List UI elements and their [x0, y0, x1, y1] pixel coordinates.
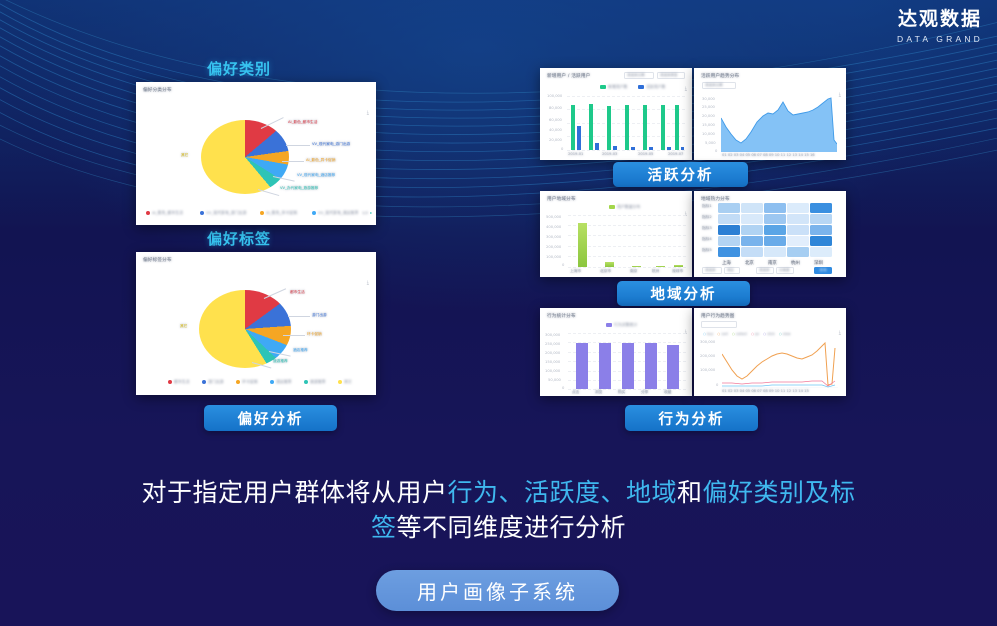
region-filter-2[interactable]: 地区	[724, 267, 740, 274]
bar-active-users	[631, 147, 635, 150]
y-tick: 0	[562, 263, 564, 267]
filter-text: 请选择日期	[627, 73, 645, 78]
legend-label: AI_影色_都市生活	[152, 210, 183, 216]
x-tick: 2019-01	[568, 152, 583, 156]
legend-label: 旅游推荐	[310, 379, 326, 385]
chart-title: 偏好标签分布	[143, 257, 172, 263]
y-tick: 30,000	[702, 97, 715, 101]
x-tick: 点击	[572, 390, 579, 395]
y-tick: 500,000	[546, 215, 561, 219]
bar-behavior-2	[622, 343, 634, 389]
legend-item-0[interactable]: AI_影色_都市生活	[146, 210, 183, 216]
bar-active-users	[649, 147, 653, 150]
y-tick: 0	[716, 383, 718, 387]
bar-region-2	[632, 266, 641, 267]
y-tick: 250,000	[545, 342, 560, 346]
x-tick: 购买	[618, 390, 625, 395]
date-filter-input[interactable]: 请选择日期	[624, 72, 654, 79]
bar-plot-area	[568, 215, 686, 267]
bar-region-4	[674, 265, 683, 268]
bar-new-users	[589, 104, 593, 150]
legend-item-region[interactable]: 用户数量分布	[609, 204, 640, 210]
pie-label-1: VV_现代家电_游门出游	[312, 142, 350, 147]
download-icon[interactable]: ⤓	[839, 92, 841, 98]
y-tick: 40,000	[549, 128, 562, 132]
heatmap-col-label: 南京	[768, 260, 777, 266]
caption-preference-category: 偏好类别	[207, 58, 271, 79]
chart-card-activity-area[interactable]: 活跃用户趋势分布 请选择日期 ⤓ 30,000 25,000 20,000 15…	[694, 68, 846, 160]
y-tick: 200,000	[546, 245, 561, 249]
pie-label-4: VV_办代家电_旅游推荐	[280, 186, 318, 191]
bar-plot-area	[568, 333, 686, 389]
legend-item-3[interactable]: VV_现代家电_酒店推荐	[312, 210, 358, 216]
x-tick: 2019-05	[638, 152, 653, 156]
bar-plot-area	[567, 96, 685, 150]
bar-region-1	[605, 262, 614, 267]
pill-preference-analysis[interactable]: 偏好分析	[204, 405, 337, 431]
bar-new-users	[571, 105, 575, 150]
legend-item-5[interactable]: 其它	[338, 379, 352, 385]
x-tick: 南京	[630, 269, 637, 274]
y-tick: 0	[561, 147, 563, 151]
bar-region-0	[578, 223, 587, 267]
x-tick: 2019-03	[602, 152, 617, 156]
y-tick: 100,000	[547, 94, 562, 98]
date-filter-input[interactable]: 请选择日期	[702, 82, 736, 89]
y-tick: 25,000	[702, 105, 715, 109]
legend-label: 环卡促销	[242, 379, 258, 385]
bar-active-users	[667, 147, 671, 150]
pie-chart	[201, 120, 289, 194]
y-tick: 10,000	[702, 132, 715, 136]
download-icon[interactable]: ⤓	[367, 110, 369, 116]
chart-title: 偏好分类分布	[143, 87, 172, 93]
legend-label: 行为次数统计	[614, 322, 637, 328]
bar-active-users	[681, 147, 684, 150]
query-button-label: 查询	[820, 268, 827, 273]
legend-item-0[interactable]: 都市生活	[168, 379, 190, 385]
legend-pager-text: 1/2	[362, 210, 368, 215]
heatmap-col-label: 北京	[745, 260, 754, 266]
chart-card-behavior-bar[interactable]: 行为统计分布 行为次数统计 ⤓ 300,000 250,000 200,000 …	[540, 308, 692, 396]
chart-card-region-bar[interactable]: 用户地域分布 用户数量分布 ⤓ 500,000 400,000 300,000 …	[540, 191, 692, 277]
legend-label: 其它	[344, 379, 352, 385]
bar-behavior-4	[667, 345, 679, 389]
legend-row[interactable]: ○buy ○cart ○collect ○pv ○click ○view	[703, 332, 790, 336]
y-tick: 0	[562, 386, 564, 390]
y-tick: 20,000	[702, 114, 715, 118]
filter-text: 请选择	[705, 268, 716, 273]
legend-label: VV_现代家电_酒店推荐	[318, 210, 358, 216]
y-tick: 400,000	[546, 225, 561, 229]
y-tick: 80,000	[549, 106, 562, 110]
bar-new-users	[625, 105, 629, 150]
bar-behavior-0	[576, 343, 588, 389]
legend-label: click	[767, 332, 775, 336]
behavior-filter-input[interactable]	[701, 321, 737, 328]
system-button[interactable]: 用户画像子系统	[376, 570, 619, 611]
area-chart	[721, 96, 837, 152]
pie-label-5: 其它	[180, 324, 187, 329]
legend-item-3[interactable]: 酒店推荐	[270, 379, 292, 385]
legend-item-1[interactable]: 游门出游	[202, 379, 224, 385]
caption-line-1: 对于指定用户群体将从用户行为、活跃度、地域和偏好类别及标	[0, 476, 997, 511]
heatmap-row-label: 指标5	[702, 248, 712, 253]
chart-title: 活跃用户趋势分布	[701, 73, 739, 79]
heatmap-col-label: 杭州	[791, 260, 800, 266]
caption-seg-6: 等不同维度进行分析	[397, 513, 627, 542]
caption-line-2: 签等不同维度进行分析	[0, 511, 997, 546]
x-tick: 收藏	[664, 390, 671, 395]
chart-title: 用户地域分布	[547, 196, 576, 202]
chart-title: 地域热力分布	[701, 196, 730, 202]
pie-chart	[199, 290, 291, 368]
pie-leader-line	[264, 288, 286, 299]
chart-title: 新增用户 / 活跃用户	[547, 73, 590, 79]
filter-text: 请选择类型	[660, 73, 678, 78]
legend-label: 活跃用户数	[646, 84, 665, 90]
bar-new-users	[607, 106, 611, 150]
chart-card-activity-bar[interactable]: 新增用户 / 活跃用户 请选择日期 请选择类型 ⤓ 新增用户数 活跃用户数 10…	[540, 68, 692, 160]
y-tick: 200,000	[545, 351, 560, 355]
heatmap-row-label: 指标4	[702, 237, 712, 242]
region-filter-3[interactable]: 请选择	[756, 267, 774, 274]
brand-logo: 达观数据 DATA GRAND	[897, 8, 983, 44]
pill-activity-analysis[interactable]: 活跃分析	[613, 162, 748, 187]
y-tick: 20,000	[549, 138, 562, 142]
x-tick: 2019-07	[668, 152, 683, 156]
caption-seg-1: 对于指定用户群体将从用户	[141, 478, 447, 507]
pie-leader-line	[258, 189, 279, 196]
x-ticks: 01 02 03 04 05 06 07 08 09 10 11 12 13 1…	[722, 389, 809, 393]
bar-region-3	[656, 266, 665, 267]
filter-text: 地区	[727, 268, 734, 273]
pie-label-0: 都市生活	[290, 290, 305, 295]
filter-text: 请选择	[759, 268, 770, 273]
bar-active-users	[613, 146, 617, 150]
legend-label: VV_现代家电_游门出游	[206, 210, 246, 216]
chart-card-region-heatmap[interactable]: 地域热力分布	[694, 191, 846, 277]
y-tick: 50,000	[548, 378, 561, 382]
caption-seg-5: 签	[371, 513, 397, 542]
pie-leader-line	[282, 161, 304, 162]
chart-card-behavior-line[interactable]: 用户行为趋势图 ○buy ○cart ○collect ○pv ○click ○…	[694, 308, 846, 396]
bar-new-users	[675, 105, 679, 150]
y-tick: 5,000	[705, 141, 716, 145]
region-filter-1[interactable]: 请选择	[702, 267, 722, 274]
caption-seg-3: 和	[677, 478, 703, 507]
slide-root: 达观数据 DATA GRAND 偏好类别 偏好标签 偏好分类分布 ⤓ AI_影色…	[0, 0, 997, 626]
legend-item-2[interactable]: AI_影色_异卡促销	[260, 210, 297, 216]
brand-logo-cn: 达观数据	[897, 8, 983, 32]
x-ticks: 01 02 03 04 05 06 07 08 09 10 11 12 13 1…	[722, 153, 815, 157]
download-icon[interactable]: ⤓	[367, 280, 369, 286]
y-tick: 60,000	[549, 118, 562, 122]
y-tick: 200,000	[700, 354, 715, 358]
heatmap-col-label: 上海	[722, 260, 731, 266]
pie-label-0: AI_影色_都市生活	[288, 120, 317, 125]
heatmap-col-label: 深圳	[814, 260, 823, 266]
slide-caption: 对于指定用户群体将从用户行为、活跃度、地域和偏好类别及标 签等不同维度进行分析	[0, 476, 997, 545]
bar-active-users	[595, 143, 599, 150]
filter-text: 请选择日期	[705, 83, 723, 88]
bar-behavior-1	[599, 343, 611, 389]
chart-title: 用户行为趋势图	[701, 313, 735, 319]
pill-behavior-analysis[interactable]: 行为分析	[625, 405, 758, 431]
pie-label-2: AI_影色_异卡促销	[306, 158, 335, 163]
x-tick: 北京市	[600, 269, 611, 274]
y-tick: 300,000	[546, 235, 561, 239]
caption-preference-tag: 偏好标签	[207, 228, 271, 249]
legend-label: 游门出游	[208, 379, 224, 385]
pie-label-3: 酒店推荐	[293, 348, 308, 353]
legend-label: 新增用户数	[608, 84, 627, 90]
pie-label-5: 其它	[181, 153, 188, 158]
pie-label-4: 旅游推荐	[273, 359, 288, 364]
legend-label: buy	[707, 332, 713, 336]
caption-seg-2: 行为、活跃度、地域	[447, 478, 677, 507]
download-icon[interactable]: ⤓	[839, 330, 841, 336]
legend-item-1[interactable]: VV_现代家电_游门出游	[200, 210, 246, 216]
type-filter-input[interactable]: 请选择类型	[657, 72, 685, 79]
x-tick: 浏览	[595, 390, 602, 395]
bar-new-users	[661, 105, 665, 150]
legend-label: view	[783, 332, 791, 336]
region-filter-4[interactable]: 分维度	[776, 267, 794, 274]
x-tick: 上海市	[570, 269, 581, 274]
legend-item-2[interactable]: 环卡促销	[236, 379, 258, 385]
heatmap-row-label: 指标2	[702, 215, 712, 220]
pill-region-analysis[interactable]: 地域分析	[617, 281, 750, 306]
x-tick: 深圳市	[672, 269, 683, 274]
heatmap-row-label: 指标1	[702, 204, 712, 209]
bar-new-users	[643, 105, 647, 150]
y-tick: 300,000	[545, 333, 560, 337]
bar-active-users	[577, 126, 581, 150]
pie-leader-line	[283, 335, 305, 336]
legend-label: collect	[736, 332, 747, 336]
bar-behavior-3	[645, 343, 657, 389]
legend-label: AI_影色_异卡促销	[266, 210, 297, 216]
pie-label-3: VV_现代家电_酒店推荐	[297, 173, 335, 178]
legend-item-new-users[interactable]: 新增用户数	[600, 84, 627, 90]
y-tick: 100,000	[545, 369, 560, 373]
legend-label: cart	[721, 332, 728, 336]
y-tick: 100,000	[700, 368, 715, 372]
legend-item-4[interactable]: 旅游推荐	[304, 379, 326, 385]
query-button[interactable]: 查询	[814, 267, 832, 274]
caption-seg-4: 偏好类别及标	[703, 478, 856, 507]
download-icon[interactable]: ⤓	[685, 86, 687, 92]
heatmap-row-label: 指标3	[702, 226, 712, 231]
legend-item-active-users[interactable]: 活跃用户数	[638, 84, 665, 90]
legend-label: 酒店推荐	[276, 379, 292, 385]
y-tick: 100,000	[546, 255, 561, 259]
pie-leader-line	[286, 145, 310, 146]
pie-label-1: 游门出游	[312, 313, 327, 318]
x-tick: 杭州	[652, 269, 659, 274]
legend-label: 都市生活	[174, 379, 190, 385]
pie-label-2: 环卡促销	[307, 332, 322, 337]
pie-leader-line	[288, 316, 310, 317]
brand-logo-en: DATA GRAND	[897, 34, 983, 44]
chart-title: 行为统计分布	[547, 313, 576, 319]
y-tick: 0	[715, 149, 717, 153]
y-tick: 150,000	[545, 360, 560, 364]
chart-card-preference-tag[interactable]: 偏好标签分布 ⤓ 都市生活 游门出游 环卡促销 酒店推荐 旅游推荐 其它 都市生…	[136, 252, 376, 395]
legend-item-behavior[interactable]: 行为次数统计	[606, 322, 637, 328]
legend-label: pv	[755, 332, 759, 336]
chart-card-preference-category[interactable]: 偏好分类分布 ⤓ AI_影色_都市生活 VV_现代家电_游门出游 AI_影色_异…	[136, 82, 376, 225]
y-tick: 15,000	[702, 123, 715, 127]
filter-text: 分维度	[779, 268, 790, 273]
line-chart	[722, 340, 838, 388]
legend-label: 用户数量分布	[617, 204, 640, 210]
x-tick: 分享	[641, 390, 648, 395]
y-tick: 300,000	[700, 340, 715, 344]
legend-pager[interactable]: 1/2▸	[362, 210, 372, 215]
